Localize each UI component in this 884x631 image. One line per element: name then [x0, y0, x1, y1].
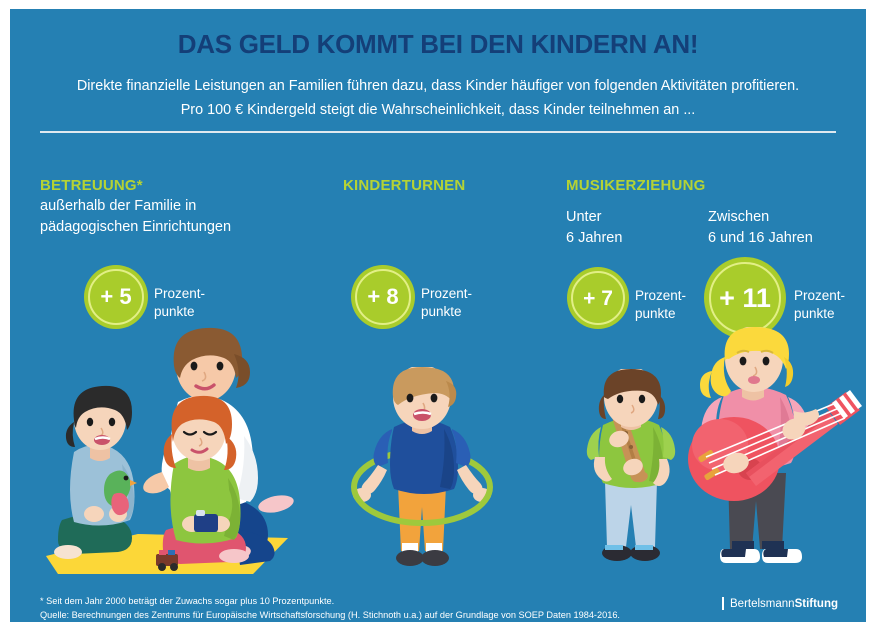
- header-divider: [40, 131, 836, 133]
- illustration-betreuung: [38, 324, 318, 579]
- section-subtext-betreuung: außerhalb der Familie in pädagogischen E…: [40, 196, 231, 238]
- unit-line-1: Prozent-: [794, 287, 845, 305]
- badge-value-kinderturnen: + 8: [367, 286, 398, 308]
- brand-name-part2: Stiftung: [795, 598, 838, 610]
- age-label-6-bis-16: Zwischen 6 und 16 Jahren: [708, 207, 813, 249]
- betreuung-sub-line-1: außerhalb der Familie in: [40, 196, 231, 217]
- illustration-musik-guitar: [676, 327, 866, 575]
- page-subtitle: Direkte finanzielle Leistungen an Famili…: [38, 74, 838, 122]
- badge-unit-betreuung: Prozent- punkte: [154, 285, 205, 321]
- badge-value-betreuung: + 5: [100, 286, 131, 308]
- badge-value-musik-unter6: + 7: [583, 288, 613, 309]
- badge-circle-betreuung: + 5: [84, 265, 148, 329]
- age-line-2: 6 Jahren: [566, 228, 622, 249]
- brand-bar-icon: [722, 597, 724, 610]
- subtitle-line-1: Direkte finanzielle Leistungen an Famili…: [38, 74, 838, 98]
- badge-unit-kinderturnen: Prozent- punkte: [421, 285, 472, 321]
- age-label-unter-6: Unter 6 Jahren: [566, 207, 622, 249]
- brand-logo: BertelsmannStiftung: [722, 597, 838, 610]
- badge-unit-musik-unter6: Prozent- punkte: [635, 287, 686, 323]
- unit-line-1: Prozent-: [421, 285, 472, 303]
- infographic-panel: DAS GELD KOMMT BEI DEN KINDERN AN! Direk…: [10, 9, 866, 622]
- badge-circle-musik-unter6: + 7: [567, 267, 629, 329]
- section-heading-betreuung: BETREUUNG*: [40, 177, 143, 194]
- badge-unit-musik-6bis16: Prozent- punkte: [794, 287, 845, 323]
- badge-circle-kinderturnen: + 8: [351, 265, 415, 329]
- badge-value-musik-6bis16: + 11: [719, 285, 771, 312]
- footnote-line-2: Quelle: Berechnungen des Zentrums für Eu…: [40, 608, 660, 622]
- footnote-line-1: * Seit dem Jahr 2000 beträgt der Zuwachs…: [40, 594, 660, 608]
- age-line-2: 6 und 16 Jahren: [708, 228, 813, 249]
- betreuung-sub-line-2: pädagogischen Einrichtungen: [40, 217, 231, 238]
- unit-line-2: punkte: [794, 305, 845, 323]
- section-heading-kinderturnen: KINDERTURNEN: [343, 177, 465, 194]
- unit-line-1: Prozent-: [635, 287, 686, 305]
- unit-line-2: punkte: [421, 303, 472, 321]
- footnote: * Seit dem Jahr 2000 beträgt der Zuwachs…: [40, 594, 660, 622]
- subtitle-line-2: Pro 100 € Kindergeld steigt die Wahrsche…: [38, 98, 838, 122]
- illustration-kinderturnen: [340, 367, 505, 572]
- unit-line-1: Prozent-: [154, 285, 205, 303]
- age-line-1: Unter: [566, 207, 622, 228]
- unit-line-2: punkte: [635, 305, 686, 323]
- section-heading-musikerziehung: MUSIKERZIEHUNG: [566, 177, 705, 194]
- age-line-1: Zwischen: [708, 207, 813, 228]
- unit-line-2: punkte: [154, 303, 205, 321]
- page-title: DAS GELD KOMMT BEI DEN KINDERN AN!: [10, 29, 866, 60]
- brand-name: BertelsmannStiftung: [730, 598, 838, 610]
- brand-name-part1: Bertelsmann: [730, 598, 795, 610]
